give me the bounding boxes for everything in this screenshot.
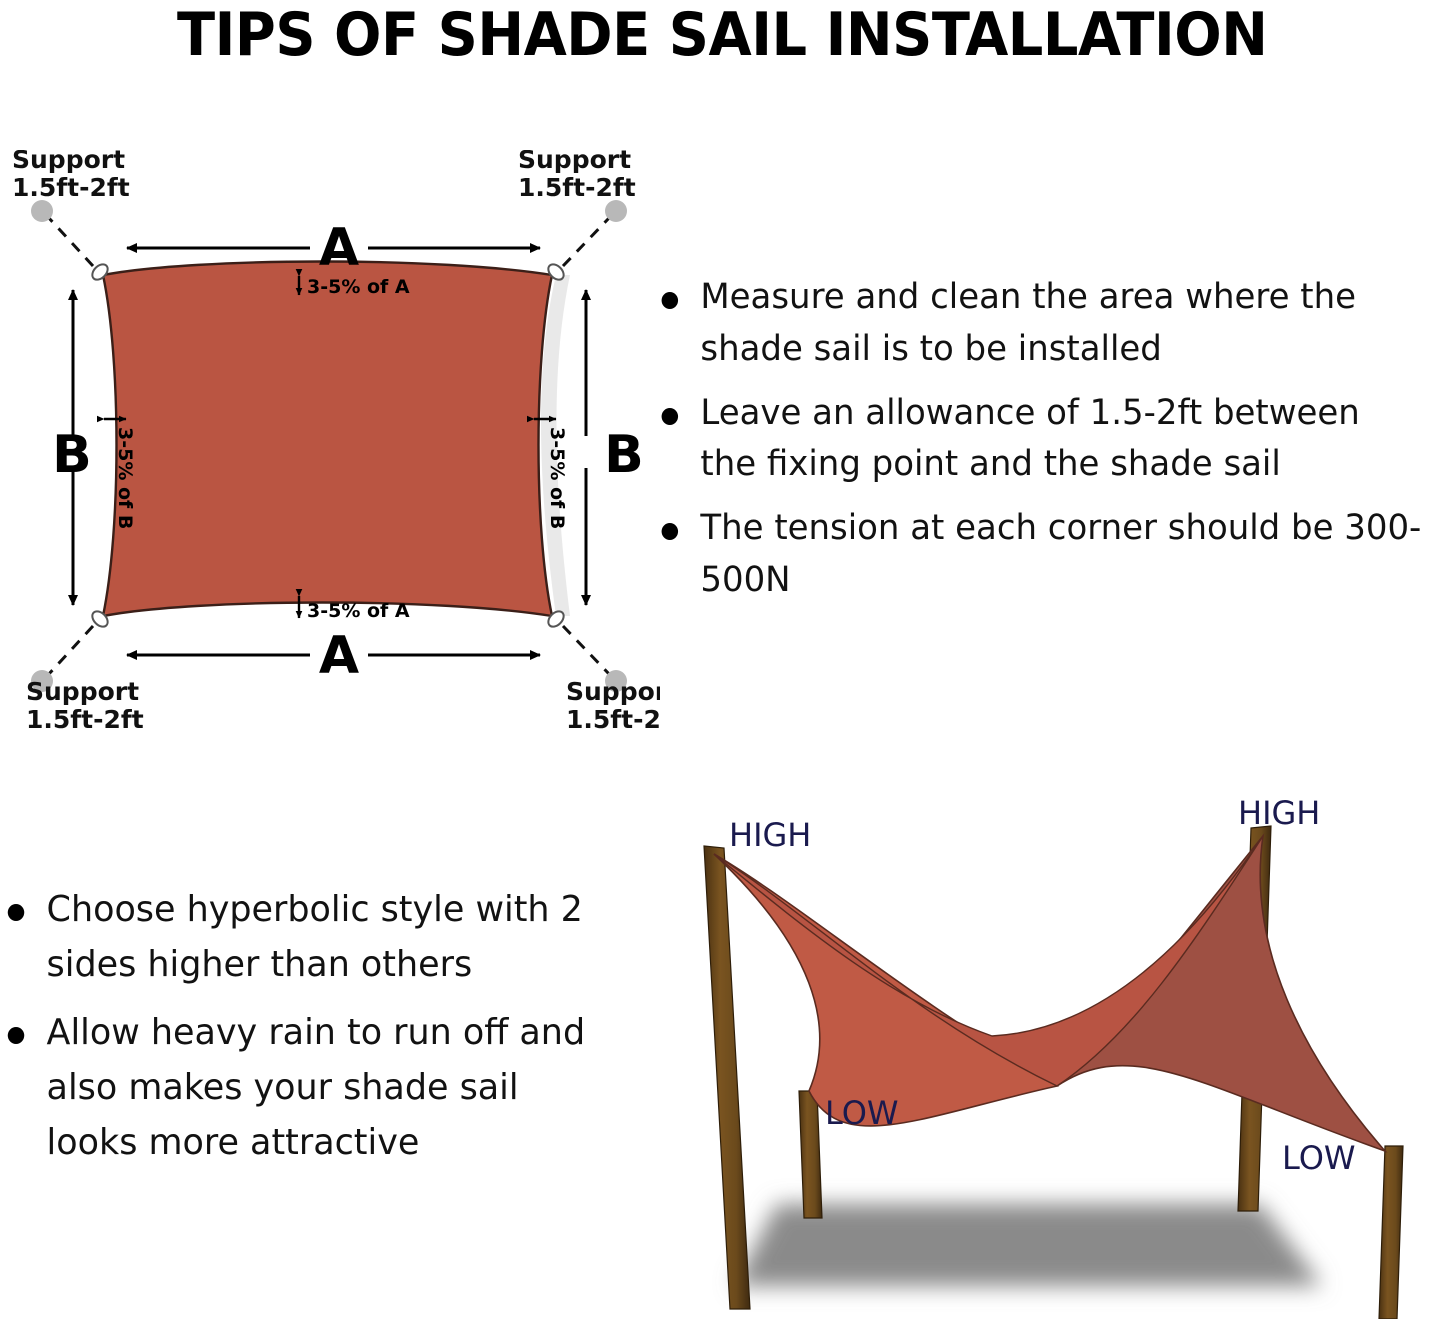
tip-text: Measure and clean the area where the sha… — [700, 277, 1356, 369]
support-label-top-right-line1: Support — [518, 150, 631, 174]
support-label-bottom-left-line1: Support — [26, 677, 139, 706]
tip-item: Leave an allowance of 1.5-2ft between th… — [648, 388, 1424, 492]
label-high-left: HIGH — [729, 816, 811, 854]
curvature-label-left: 3-5% of B — [114, 427, 136, 529]
bullet-icon — [662, 292, 678, 309]
tip-item: Allow heavy rain to run off and also mak… — [0, 1006, 601, 1170]
label-high-right: HIGH — [1238, 794, 1320, 832]
dimension-label-a-bottom: A — [319, 626, 359, 686]
label-low-left: LOW — [825, 1094, 899, 1132]
post-low-right — [1379, 1146, 1403, 1319]
curvature-label-right: 3-5% of B — [546, 427, 568, 529]
support-label-top-left-line2: 1.5ft-2ft — [12, 173, 130, 202]
sail-shape — [103, 262, 552, 617]
dimension-label-b-right: B — [604, 425, 644, 485]
rect-sail-diagram: A 3-5% of A A 3-5% of A B 3-5% of B — [0, 150, 660, 730]
page-title-bar: TIPS OF SHADE SAIL INSTALLATION — [0, 0, 1445, 70]
tips-list-left: Choose hyperbolic style with 2 sides hig… — [0, 883, 620, 1185]
post-high-left — [704, 846, 750, 1309]
support-label-top-left-line1: Support — [12, 150, 125, 174]
curvature-label-bottom: 3-5% of A — [307, 600, 410, 622]
support-label-bottom-left-line2: 1.5ft-2ft — [26, 705, 144, 730]
tip-item: Choose hyperbolic style with 2 sides hig… — [0, 883, 601, 992]
tip-text: Allow heavy rain to run off and also mak… — [47, 1012, 586, 1162]
tip-text: Leave an allowance of 1.5-2ft between th… — [700, 393, 1359, 485]
dimension-label-a-top: A — [319, 218, 359, 278]
curvature-label-top: 3-5% of A — [307, 276, 410, 298]
support-label-bottom-right-line2: 1.5ft-2ft — [566, 705, 660, 730]
tip-item: Measure and clean the area where the sha… — [648, 272, 1424, 376]
tip-text: The tension at each corner should be 300… — [700, 508, 1421, 600]
support-label-top-right-line2: 1.5ft-2ft — [518, 173, 636, 202]
post-low-left — [799, 1091, 822, 1218]
sail-panel-back — [1057, 836, 1385, 1151]
bullet-icon — [662, 523, 678, 540]
bullet-icon — [8, 1027, 24, 1044]
tips-list-right: Measure and clean the area where the sha… — [648, 272, 1445, 619]
tip-item: The tension at each corner should be 300… — [648, 503, 1424, 607]
support-label-bottom-right-line1: Support — [566, 677, 660, 706]
support-dot-top-right — [605, 200, 627, 222]
support-dot-top-left — [31, 200, 53, 222]
bullet-icon — [662, 408, 678, 425]
tip-text: Choose hyperbolic style with 2 sides hig… — [47, 889, 583, 985]
page-title: TIPS OF SHADE SAIL INSTALLATION — [177, 5, 1267, 65]
label-low-right: LOW — [1282, 1139, 1356, 1177]
hyperbolic-sail-diagram: HIGH HIGH LOW LOW — [662, 786, 1445, 1319]
bullet-icon — [8, 904, 24, 921]
dimension-label-b-left: B — [52, 425, 92, 485]
